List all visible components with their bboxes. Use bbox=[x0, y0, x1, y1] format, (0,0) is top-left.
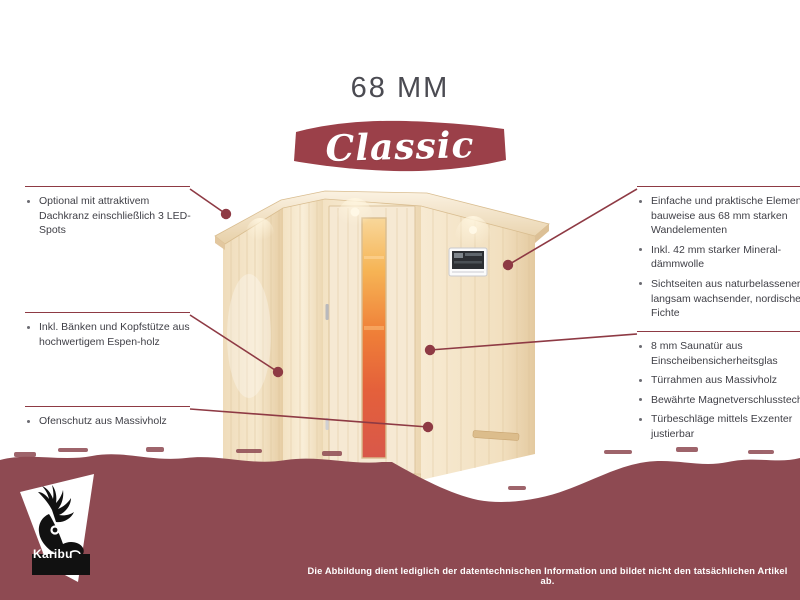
list-item: Türrahmen aus Massivholz bbox=[637, 373, 800, 388]
list-item: Bewährte Magnetverschlusstechnik bbox=[637, 393, 800, 408]
callout-list: 8 mm Saunatür aus Einscheibensicherheits… bbox=[637, 339, 800, 442]
callout-rule bbox=[637, 186, 800, 187]
callout-list: Einfache und praktische Element-bauweise… bbox=[637, 194, 800, 321]
list-item: Optional mit attraktivem Dachkranz einsc… bbox=[25, 194, 200, 238]
list-item: 8 mm Saunatür aus Einscheibensicherheits… bbox=[637, 339, 800, 368]
callout-roof-crown: Optional mit attraktivem Dachkranz einsc… bbox=[0, 186, 200, 243]
logo-wordmark: Karibu bbox=[33, 547, 73, 561]
disclaimer-text: Die Abbildung dient lediglich der datent… bbox=[300, 566, 795, 586]
series-name: Classic bbox=[289, 113, 511, 181]
callout-rule bbox=[25, 186, 190, 187]
callout-oven-guard: Ofenschutz aus Massivholz bbox=[0, 406, 200, 434]
callout-sauna-door: 8 mm Saunatür aus Einscheibensicherheits… bbox=[637, 331, 800, 447]
list-item: Inkl. Bänken und Kopfstütze aus hochwert… bbox=[25, 320, 200, 349]
callout-list: Ofenschutz aus Massivholz bbox=[25, 414, 200, 429]
callout-rule bbox=[25, 406, 190, 407]
callout-list: Optional mit attraktivem Dachkranz einsc… bbox=[25, 194, 200, 238]
list-item: Ofenschutz aus Massivholz bbox=[25, 414, 200, 429]
product-infographic: 68 MM Classic bbox=[0, 0, 800, 600]
page-title: 68 MM bbox=[0, 72, 800, 105]
list-item: Inkl. 42 mm starker Mineral-dämmwolle bbox=[637, 243, 800, 272]
callout-wall-elements: Einfache und praktische Element-bauweise… bbox=[637, 186, 800, 326]
list-item: Sichtseiten aus naturbelassener, langsam… bbox=[637, 277, 800, 321]
callout-benches: Inkl. Bänken und Kopfstütze aus hochwert… bbox=[0, 312, 200, 354]
list-item: Türbeschläge mittels Exzenter justierbar bbox=[637, 412, 800, 441]
callout-rule bbox=[637, 331, 800, 332]
callout-list: Inkl. Bänken und Kopfstütze aus hochwert… bbox=[25, 320, 200, 349]
list-item: Einfache und praktische Element-bauweise… bbox=[637, 194, 800, 238]
karibu-logo bbox=[8, 470, 113, 588]
series-banner: Classic bbox=[290, 116, 510, 178]
callout-rule bbox=[25, 312, 190, 313]
